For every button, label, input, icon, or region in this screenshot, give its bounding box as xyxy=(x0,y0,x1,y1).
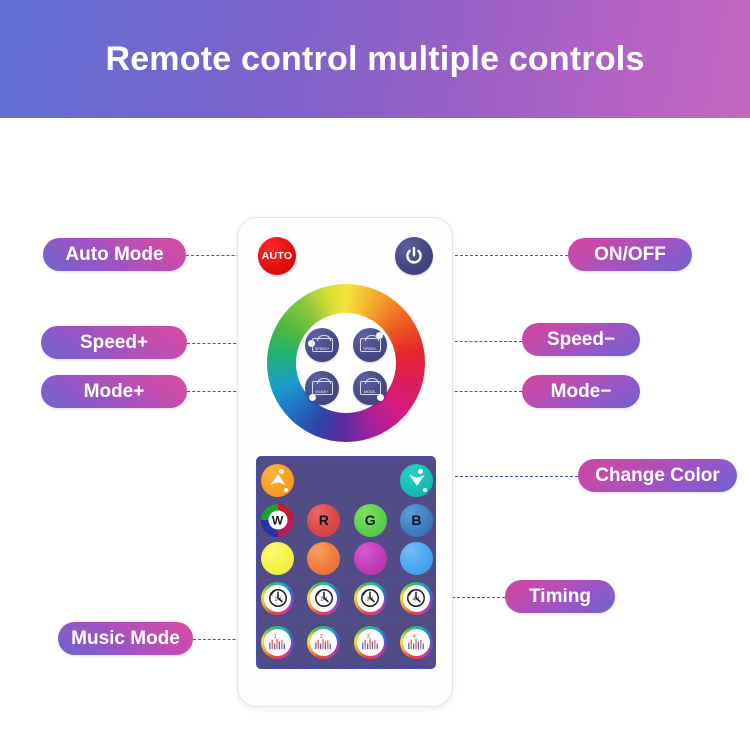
power-icon xyxy=(403,245,425,267)
color-row xyxy=(261,542,433,574)
svg-text:3: 3 xyxy=(366,634,369,640)
callout-mode-plus: Mode+ xyxy=(41,375,187,408)
timer-4h-button[interactable]: 4H xyxy=(400,582,433,615)
mode-down-label: MODE- xyxy=(364,390,376,394)
glint-dot xyxy=(279,469,284,474)
svg-text:1H: 1H xyxy=(274,597,281,603)
music-mode-1-button[interactable]: 1 xyxy=(261,626,294,659)
speed-down-icon: SPEED- xyxy=(360,338,381,352)
clock-icon: 4H xyxy=(403,585,430,612)
auto-button-label: AUTO xyxy=(262,250,293,262)
equalizer-glyph: 2 xyxy=(311,630,336,655)
callout-speed-plus: Speed+ xyxy=(41,326,187,359)
chevron-up-icon xyxy=(268,470,288,490)
callout-music-mode: Music Mode xyxy=(58,622,193,655)
clock-glyph: 3H xyxy=(358,586,382,610)
mode-down-icon: MODE- xyxy=(360,381,381,395)
clock-icon: 2H xyxy=(310,585,337,612)
svg-text:2: 2 xyxy=(320,634,323,640)
white-button[interactable]: W xyxy=(261,504,294,537)
callout-mode-minus: Mode− xyxy=(522,375,640,408)
green-button[interactable]: G xyxy=(354,504,387,537)
svg-text:3H: 3H xyxy=(367,597,374,603)
equalizer-glyph: 1 xyxy=(265,630,290,655)
timer-2h-button[interactable]: 2H xyxy=(307,582,340,615)
magenta-button[interactable] xyxy=(354,542,387,575)
page-title: Remote control multiple controls xyxy=(105,40,644,79)
page-root: Remote control multiple controls Auto Mo… xyxy=(0,0,750,750)
music-mode-3-button[interactable]: 3 xyxy=(354,626,387,659)
keypad-divider xyxy=(261,579,433,580)
callout-speed-minus: Speed− xyxy=(522,323,640,356)
clock-glyph: 4H xyxy=(404,586,428,610)
rgb-row: W R G B xyxy=(261,504,433,536)
equalizer-icon: 1 xyxy=(264,629,291,656)
callout-change-color: Change Color xyxy=(578,459,737,492)
mode-up-icon: MODE+ xyxy=(312,381,333,395)
svg-text:1: 1 xyxy=(274,634,277,640)
svg-text:2H: 2H xyxy=(320,597,327,603)
callout-auto-mode: Auto Mode xyxy=(43,238,186,271)
white-button-label: W xyxy=(268,511,287,530)
timer-1h-button[interactable]: 1H xyxy=(261,582,294,615)
brightness-down-button[interactable] xyxy=(400,464,433,497)
button-glint xyxy=(377,394,384,401)
mode-down-button[interactable]: MODE- xyxy=(353,371,387,405)
mode-up-label: MODE+ xyxy=(315,390,328,394)
button-glint xyxy=(309,394,316,401)
remote-control-body: AUTO SPEED+ SPEED- xyxy=(237,217,453,707)
glint-dot xyxy=(418,469,423,474)
clock-glyph: 2H xyxy=(312,586,336,610)
glint-dot xyxy=(423,488,427,492)
speed-up-button[interactable]: SPEED+ xyxy=(305,328,339,362)
equalizer-icon: 4 xyxy=(403,629,430,656)
music-mode-2-button[interactable]: 2 xyxy=(307,626,340,659)
lightblue-button[interactable] xyxy=(400,542,433,575)
connector-change-color xyxy=(440,476,578,477)
speed-up-label: SPEED+ xyxy=(315,347,330,351)
power-button[interactable] xyxy=(395,237,433,275)
mode-up-button[interactable]: MODE+ xyxy=(305,371,339,405)
equalizer-icon: 2 xyxy=(310,629,337,656)
chevron-down-icon xyxy=(407,470,427,490)
svg-text:4H: 4H xyxy=(413,597,420,603)
speed-down-label: SPEED- xyxy=(363,347,377,351)
glint-dot xyxy=(284,488,288,492)
equalizer-glyph: 3 xyxy=(358,630,383,655)
clock-icon: 3H xyxy=(357,585,384,612)
callout-timing: Timing xyxy=(505,580,615,613)
red-button[interactable]: R xyxy=(307,504,340,537)
clock-icon: 1H xyxy=(264,585,291,612)
orange-button[interactable] xyxy=(307,542,340,575)
header-banner: Remote control multiple controls xyxy=(0,0,750,118)
keypad-panel: W R G B xyxy=(256,456,436,669)
speed-down-button[interactable]: SPEED- xyxy=(353,328,387,362)
timer-3h-button[interactable]: 3H xyxy=(354,582,387,615)
brightness-row xyxy=(261,463,433,497)
clock-glyph: 1H xyxy=(266,586,290,610)
music-row: 1 xyxy=(261,625,433,659)
keypad-divider xyxy=(261,621,433,622)
auto-button[interactable]: AUTO xyxy=(258,237,296,275)
color-wheel[interactable]: SPEED+ SPEED- MODE+ MODE- xyxy=(267,284,425,442)
equalizer-icon: 3 xyxy=(357,629,384,656)
callout-on-off: ON/OFF xyxy=(568,238,692,271)
music-mode-4-button[interactable]: 4 xyxy=(400,626,433,659)
speed-up-icon: SPEED+ xyxy=(312,338,333,352)
yellow-button[interactable] xyxy=(261,542,294,575)
brightness-up-button[interactable] xyxy=(261,464,294,497)
equalizer-glyph: 4 xyxy=(404,630,429,655)
timer-row: 1H 2H xyxy=(261,581,433,615)
blue-button[interactable]: B xyxy=(400,504,433,537)
